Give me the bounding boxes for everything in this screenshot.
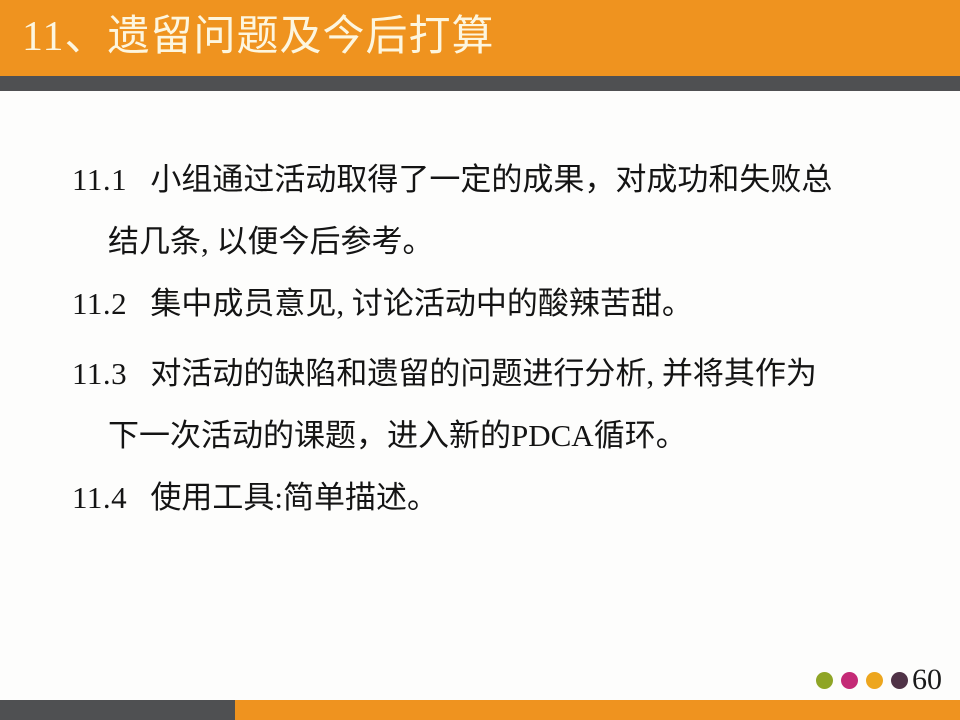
- bullet-text-line2: 结几条, 以便今后参考。: [72, 211, 912, 273]
- header-underbar-divider: [0, 76, 960, 91]
- bullet-text-line1: 集中成员意见, 讨论活动中的酸辣苦甜。: [150, 286, 693, 321]
- slide-canvas: 11、遗留问题及今后打算 11.1 小组通过活动取得了一定的成果，对成功和失败总…: [0, 0, 960, 720]
- bullet-text-line1: 小组通过活动取得了一定的成果，对成功和失败总: [150, 162, 832, 197]
- page-number: 60: [912, 662, 942, 698]
- dot-magenta-icon: [841, 672, 858, 689]
- bullet-item: 11.3 对活动的缺陷和遗留的问题进行分析, 并将其作为 下一次活动的课题，进入…: [72, 343, 912, 467]
- bullet-number: 11.1: [72, 162, 127, 197]
- bullet-text-line2: 下一次活动的课题，进入新的PDCA循环。: [72, 405, 912, 467]
- bullet-number: 11.4: [72, 480, 127, 515]
- footer-decoration-dots: [816, 672, 908, 689]
- dot-olive-icon: [816, 672, 833, 689]
- slide-body: 11.1 小组通过活动取得了一定的成果，对成功和失败总 结几条, 以便今后参考。…: [0, 91, 960, 651]
- dot-orange-icon: [866, 672, 883, 689]
- bullet-text-line1: 对活动的缺陷和遗留的问题进行分析, 并将其作为: [150, 356, 817, 391]
- bullet-item: 11.2 集中成员意见, 讨论活动中的酸辣苦甜。: [72, 273, 912, 335]
- dot-purple-icon: [891, 672, 908, 689]
- page-title: 11、遗留问题及今后打算: [22, 9, 494, 65]
- footer-bar-dark-segment: [0, 700, 235, 720]
- bullet-number: 11.3: [72, 356, 127, 391]
- bullet-number: 11.2: [72, 286, 127, 321]
- footer-bar-orange-segment: [235, 700, 960, 720]
- bullet-item: 11.4 使用工具:简单描述。: [72, 467, 912, 529]
- bullet-item: 11.1 小组通过活动取得了一定的成果，对成功和失败总 结几条, 以便今后参考。: [72, 149, 912, 273]
- bullet-text-line1: 使用工具:简单描述。: [150, 480, 438, 515]
